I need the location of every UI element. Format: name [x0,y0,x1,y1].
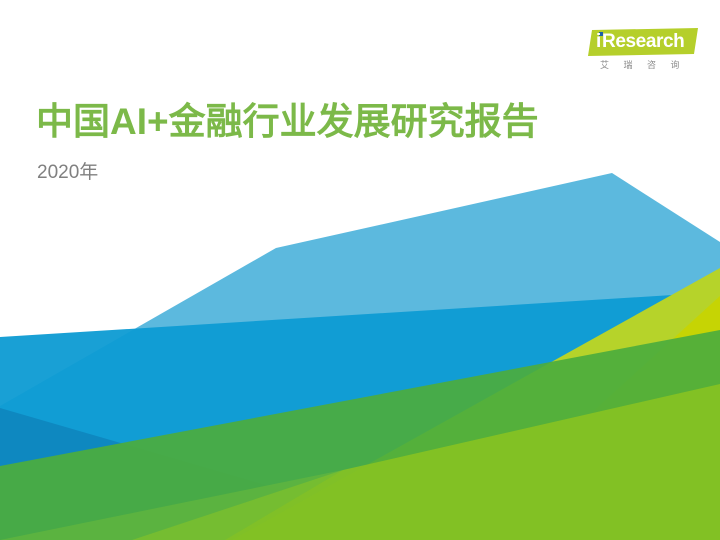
logo-plate: Research i [588,28,698,56]
logo-initial-i: i [596,29,601,54]
logo-chinese-name: 艾 瑞 咨 询 [600,58,686,71]
logo-wordmark: Research [602,29,684,54]
page-subtitle: 2020年 [37,160,98,186]
report-cover-slide: Research i 艾 瑞 咨 询 中国AI+金融行业发展研究报告 2020年 [0,0,720,540]
background-artwork [0,0,720,540]
page-title: 中国AI+金融行业发展研究报告 [36,99,539,145]
iresearch-logo: Research i 艾 瑞 咨 询 [588,28,698,76]
